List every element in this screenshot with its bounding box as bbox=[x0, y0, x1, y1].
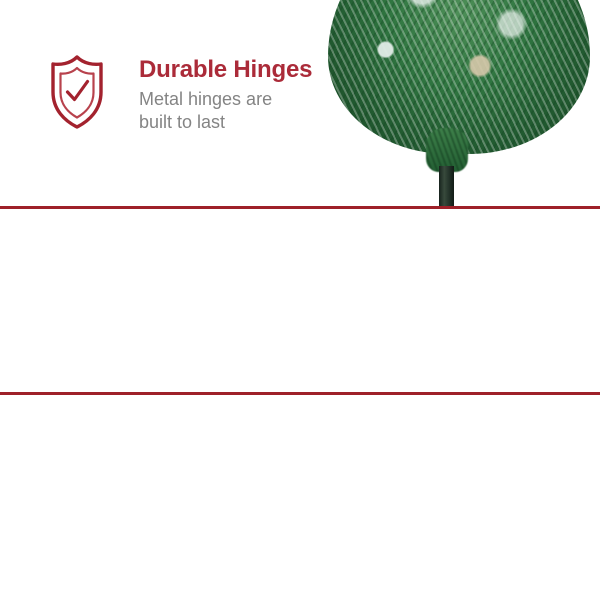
feature-title-durable-hinges: Durable Hinges bbox=[139, 57, 312, 83]
divider-line-bottom bbox=[0, 392, 600, 395]
christmas-tree-branches-photo bbox=[318, 0, 600, 206]
tree-center-pole bbox=[439, 166, 454, 206]
divider-line-top bbox=[0, 206, 600, 209]
product-feature-infographic: Durable Hinges Metal hinges are built to… bbox=[0, 0, 600, 600]
feature-panel-sturdy-base: Sturdy Base A reliable stand for your tr… bbox=[0, 400, 600, 600]
feature-panel-pvc-branches: PVC Branches Flame-retardant for safety … bbox=[0, 210, 600, 390]
feature-panel-durable-hinges: Durable Hinges Metal hinges are built to… bbox=[0, 0, 600, 207]
feature-desc-line: built to last bbox=[139, 111, 312, 134]
durable-hinges-text-block: Durable Hinges Metal hinges are built to… bbox=[139, 57, 312, 134]
feature-desc-line: Metal hinges are bbox=[139, 88, 312, 111]
feature-desc-durable-hinges: Metal hinges are built to last bbox=[139, 88, 312, 134]
shield-check-icon bbox=[48, 54, 106, 130]
